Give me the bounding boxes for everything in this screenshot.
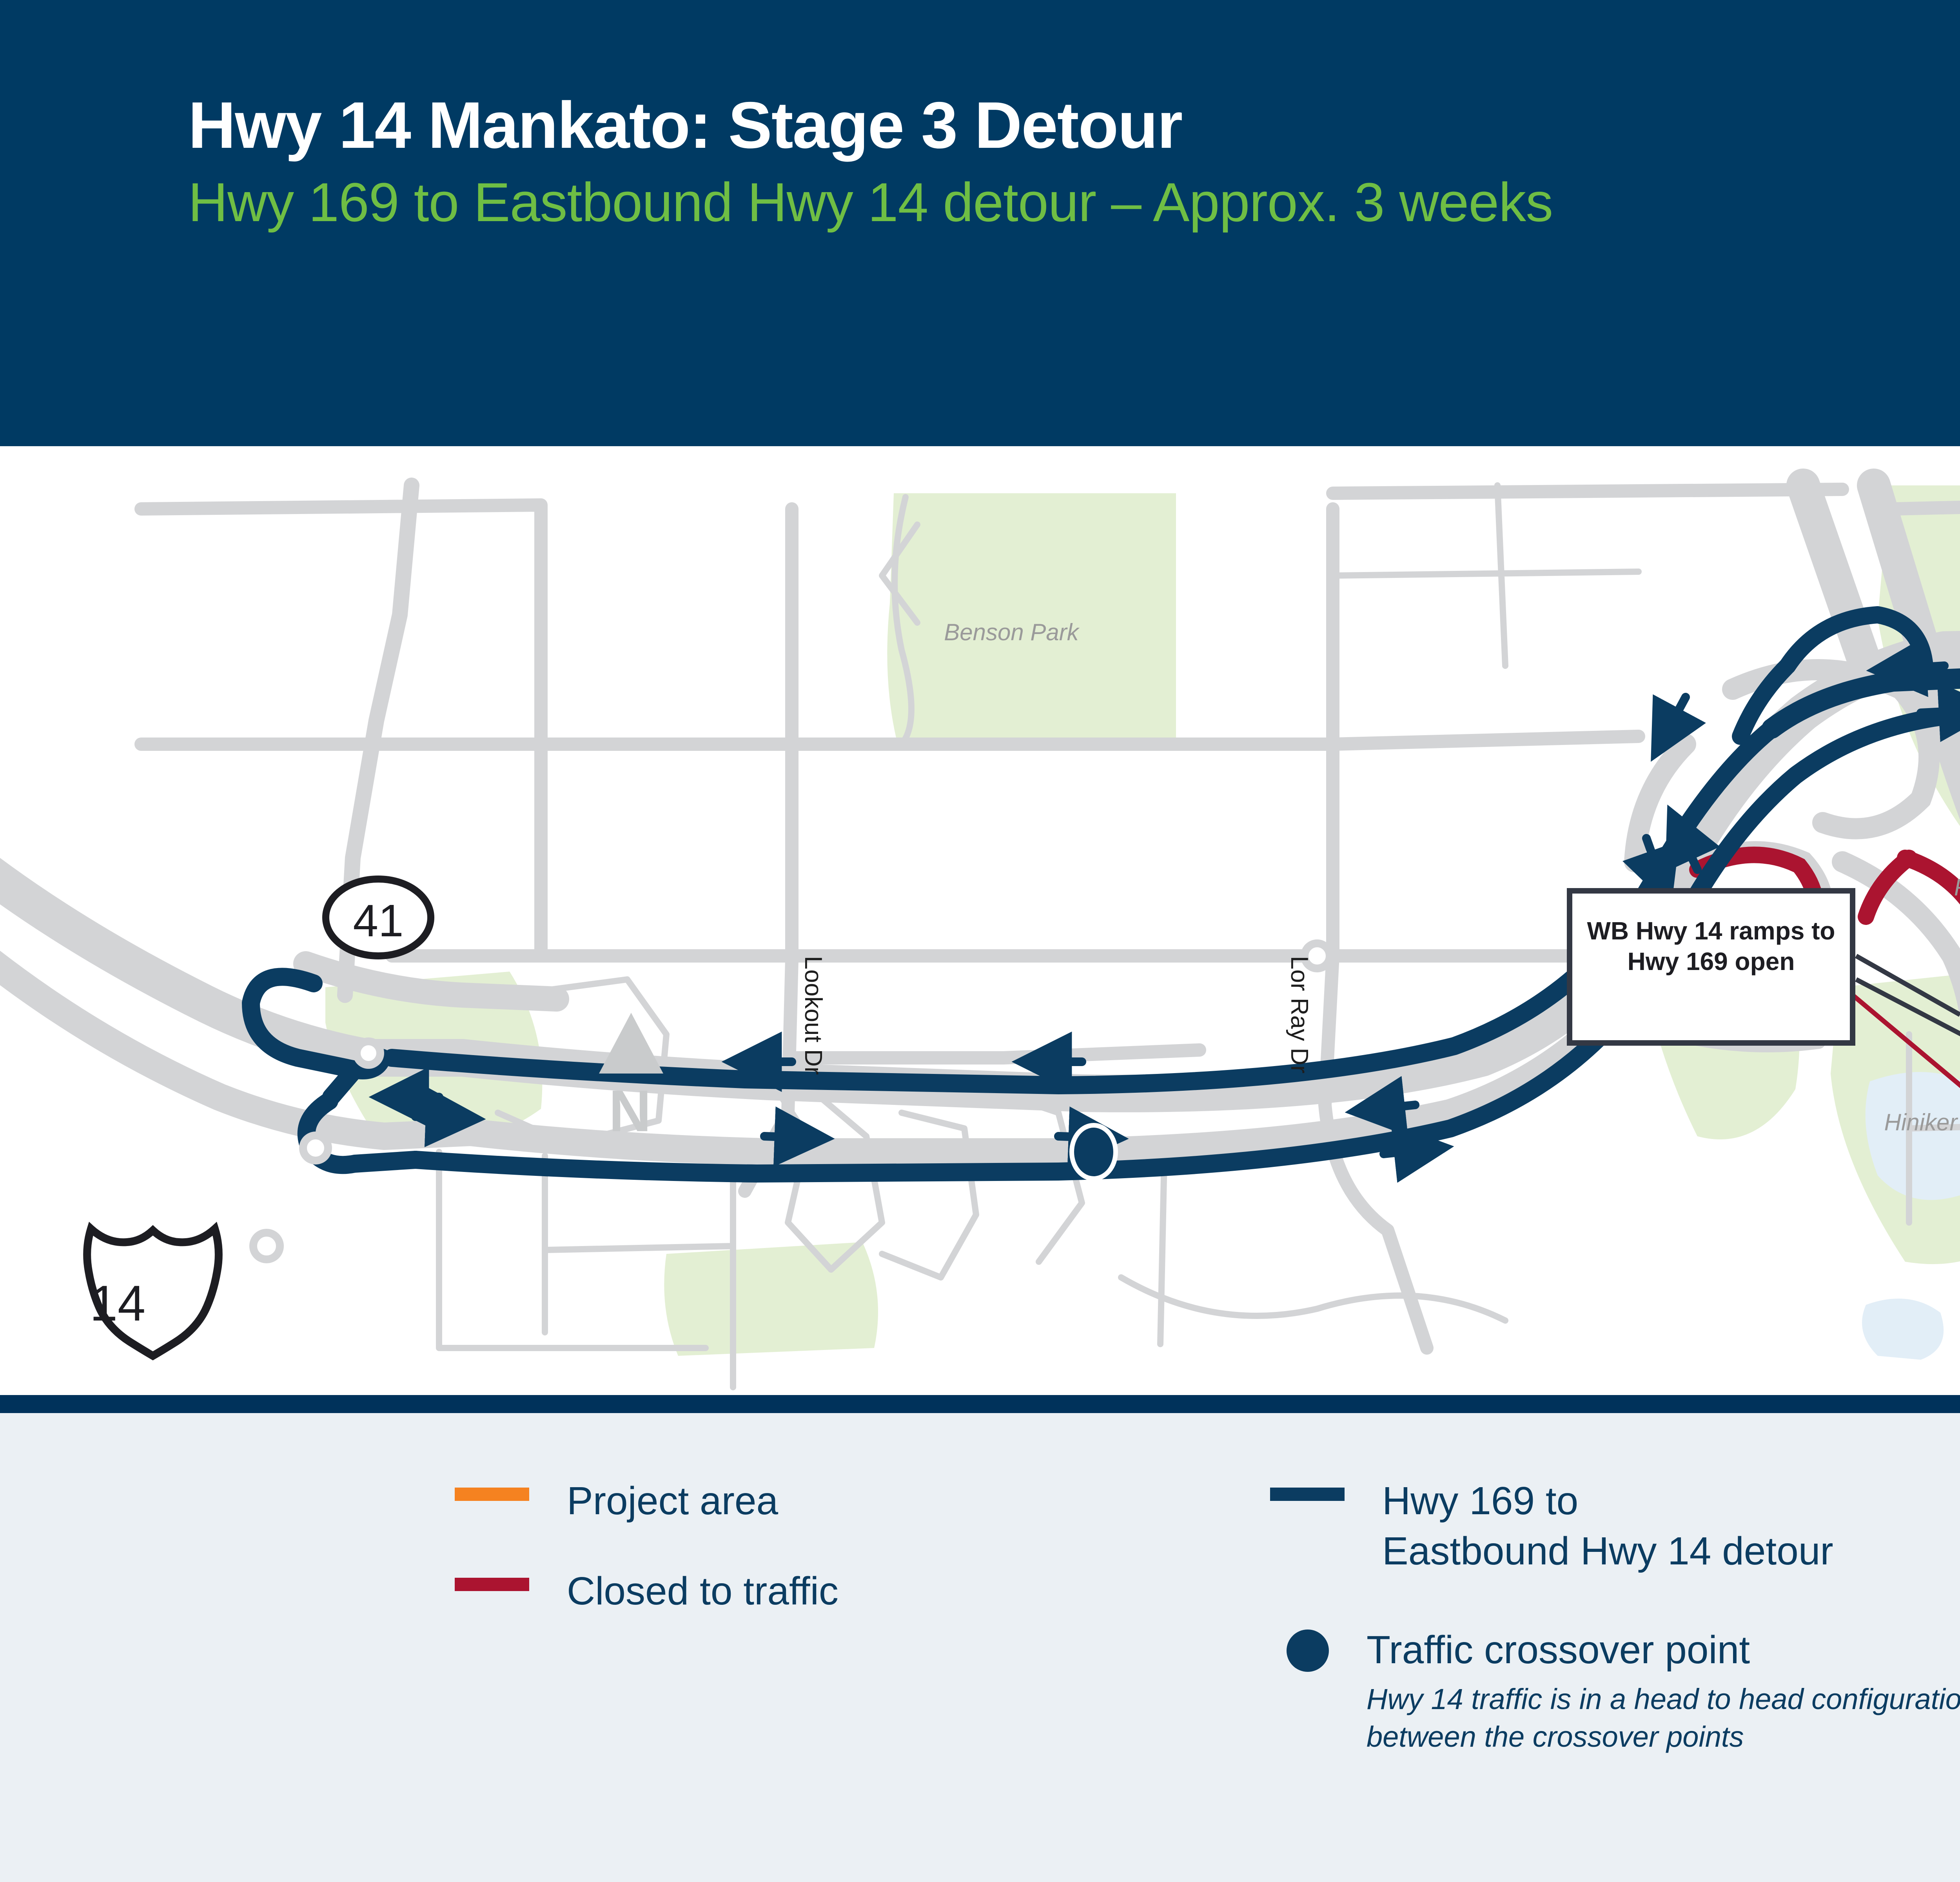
page-header: Hwy 14 Mankato: Stage 3 Detour Hwy 169 t… xyxy=(0,0,1960,446)
page-subtitle: Hwy 169 to Eastbound Hwy 14 detour – App… xyxy=(188,173,1960,231)
callout-wb-ramps-open: WB Hwy 14 ramps to Hwy 169 open xyxy=(1567,888,1855,1046)
svg-text:14: 14 xyxy=(90,1275,145,1332)
legend-item-closed-to-traffic: Closed to traffic xyxy=(455,1566,838,1616)
park-label-hiniker: Hiniker Park xyxy=(1866,1109,1960,1137)
compass-north-arrow xyxy=(599,1013,663,1074)
park-label-benson: Benson Park xyxy=(929,619,1094,647)
park-label-kiwanis: KiwanisRecreationArea xyxy=(1933,846,1960,929)
page-title: Hwy 14 Mankato: Stage 3 Detour xyxy=(188,90,1960,160)
compass-label-north: N xyxy=(609,1081,651,1140)
detour-route-swatch-icon xyxy=(1270,1488,1345,1501)
svg-text:41: 41 xyxy=(353,895,403,946)
legend-item-detour-route: Hwy 169 toEastbound Hwy 14 detour xyxy=(1270,1476,1833,1576)
map-legend: Project area Closed to traffic Hwy 169 t… xyxy=(0,1413,1960,1882)
legend-sublabel-crossover-point: Hwy 14 traffic is in a head to head conf… xyxy=(1367,1680,1960,1756)
detour-map-page: Hwy 14 Mankato: Stage 3 Detour Hwy 169 t… xyxy=(0,0,1960,1882)
project-area-swatch-icon xyxy=(455,1488,529,1501)
shield-county-41: 41 xyxy=(326,879,431,956)
legend-item-project-area: Project area xyxy=(455,1476,778,1526)
legend-label-crossover-point: Traffic crossover point xyxy=(1367,1625,1960,1675)
legend-label-detour-route: Hwy 169 toEastbound Hwy 14 detour xyxy=(1382,1476,1833,1576)
closed-to-traffic-swatch-icon xyxy=(455,1578,529,1591)
street-label-lor-ray-dr: Lor Ray Dr xyxy=(1285,956,1313,1074)
legend-label-closed-to-traffic: Closed to traffic xyxy=(567,1566,838,1616)
legend-item-crossover-point: Traffic crossover point Hwy 14 traffic i… xyxy=(1270,1625,1960,1756)
map-canvas[interactable]: 14 41 169 Benson Park KiwanisRecreationA… xyxy=(0,446,1960,1395)
street-label-lookout-dr: Lookout Dr xyxy=(799,956,827,1075)
legend-divider xyxy=(0,1395,1960,1413)
title-block: Hwy 14 Mankato: Stage 3 Detour Hwy 169 t… xyxy=(188,90,1960,231)
legend-label-project-area: Project area xyxy=(567,1476,778,1526)
shield-us-14: 14 xyxy=(87,1229,219,1356)
crossover-point-swatch-icon xyxy=(1287,1629,1329,1672)
crossover-point-west xyxy=(1069,1123,1118,1181)
